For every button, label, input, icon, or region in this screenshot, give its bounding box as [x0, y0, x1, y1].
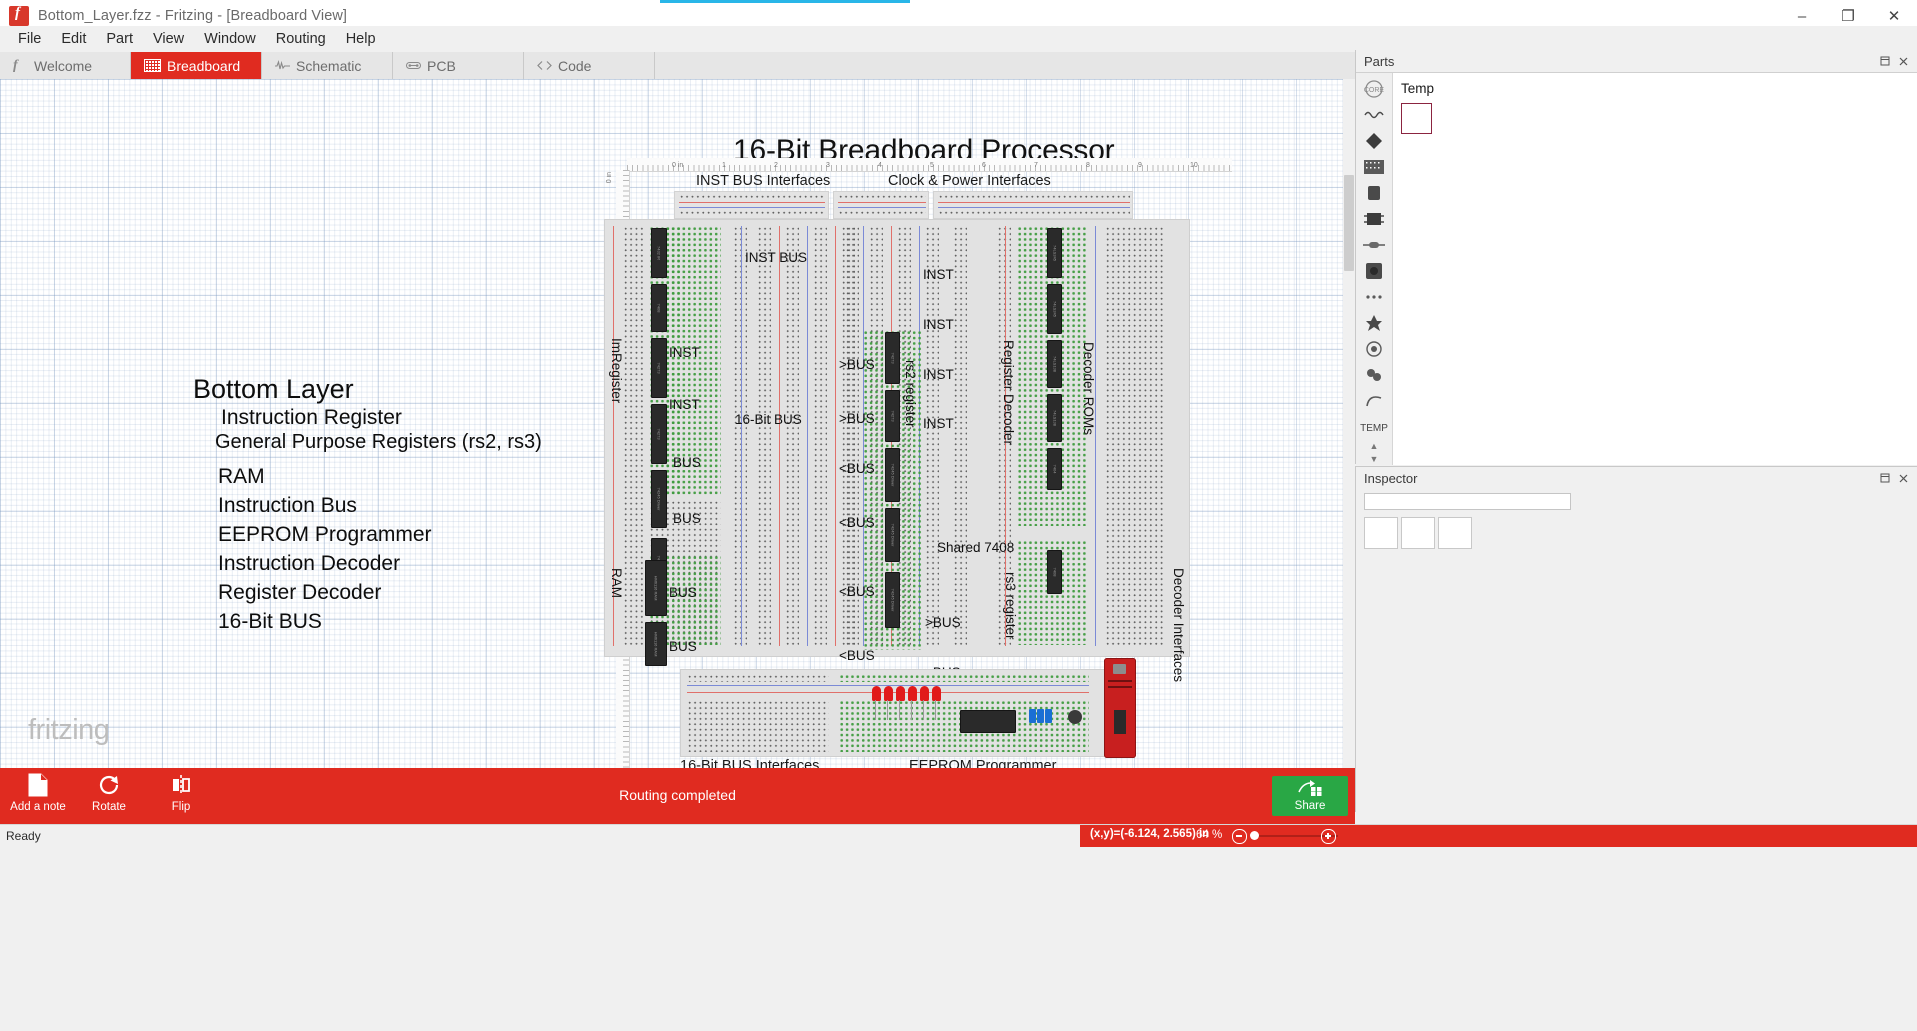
ruler-tick-5: 5 — [930, 162, 934, 169]
inspector-body — [1356, 489, 1917, 812]
led-2[interactable] — [896, 686, 905, 701]
chip-74ls245-a[interactable]: 74LS245 — [1047, 228, 1062, 278]
fritzing-f-icon: f — [13, 60, 28, 71]
inspector-name-field[interactable] — [1364, 493, 1571, 510]
tab-welcome-label: Welcome — [34, 58, 92, 74]
tab-strip-filler — [655, 52, 1355, 79]
resistor-icon[interactable] — [1359, 233, 1389, 257]
status-zoom-level: 64 % — [1196, 829, 1222, 841]
canvas-vertical-scrollbar[interactable] — [1343, 79, 1355, 768]
eeprom-breadboard[interactable] — [680, 669, 1132, 757]
tab-schematic-label: Schematic — [296, 58, 361, 74]
inspector-panel: Inspector — [1355, 466, 1917, 812]
led-0[interactable] — [872, 686, 881, 701]
pi-icon[interactable] — [1359, 363, 1389, 387]
code-icon — [537, 60, 552, 71]
close-icon[interactable] — [1896, 54, 1910, 68]
section-label-eeprom-programmer: EEPROM Programmer — [909, 758, 1056, 768]
net-label-rs2-1: >BUS — [839, 411, 875, 426]
status-ready-text: Ready — [6, 829, 41, 843]
chip-7408[interactable]: 7408 — [651, 284, 667, 332]
menu-help[interactable]: Help — [336, 28, 386, 50]
net-label-inst-1: INST — [923, 317, 954, 332]
annotation-line-3: Instruction Bus — [218, 491, 542, 520]
schematic-icon — [275, 60, 290, 71]
fritzing-watermark: fritzing — [28, 714, 109, 747]
net-label-ir-1: INST — [669, 397, 700, 412]
pin-icon[interactable] — [1878, 54, 1892, 68]
tab-pcb[interactable]: PCB — [393, 52, 524, 79]
board-label-inst-bus: INST BUS — [745, 250, 807, 265]
board-label-rs3-register: rs3 register — [1003, 572, 1018, 640]
ruler-tick-8: 8 — [1086, 162, 1090, 169]
ruler-tick-10: 10 — [1190, 162, 1198, 169]
ruler-tick-4: 4 — [878, 162, 882, 169]
fritzing-icon — [9, 6, 29, 26]
net-label-inst-3: INST — [923, 416, 954, 431]
net-label-ir-3: BUS — [673, 511, 701, 526]
power-rail-strip-2[interactable] — [833, 191, 929, 219]
led-3[interactable] — [908, 686, 917, 701]
status-coordinates: (x,y)=(-6.124, 2.565) in — [1090, 828, 1209, 840]
breadboard-bin-icon[interactable] — [1359, 155, 1389, 179]
tab-breadboard-label: Breadboard — [167, 58, 240, 74]
ruler-v-tick-0in: 0 in — [606, 172, 613, 183]
mine-icon[interactable] — [1359, 129, 1389, 153]
core-parts-icon[interactable]: CORE — [1359, 77, 1389, 101]
chip-74273-b[interactable]: 74273 — [651, 404, 667, 464]
main-breadboard[interactable]: 7432 IR 7408 74273 74273 74245 Driver 74… — [604, 219, 1190, 657]
chip-74245-driver-a[interactable]: 74245 Driver — [651, 470, 667, 528]
board-label-shared-7408: Shared 7408 — [937, 540, 1014, 555]
section-label-inst-bus-interfaces: INST BUS Interfaces — [696, 173, 830, 189]
parts-scroll-down-button[interactable]: ▼ — [1366, 452, 1382, 464]
ruler-tick-2: 2 — [774, 162, 778, 169]
chip-74273-rs2-a[interactable]: 74273 — [885, 332, 900, 384]
arduino-board[interactable] — [1104, 658, 1136, 758]
tab-code-label: Code — [558, 58, 591, 74]
pin-icon[interactable] — [1878, 471, 1892, 485]
power-rail-strip-1[interactable] — [674, 191, 829, 219]
menu-file[interactable]: File — [8, 28, 51, 50]
title-accent-bar — [660, 0, 910, 3]
connector-icon[interactable] — [1359, 181, 1389, 205]
share-button[interactable]: Share — [1272, 776, 1348, 816]
chip-eeprom[interactable] — [960, 710, 1016, 733]
window-title: Bottom_Layer.fzz - Fritzing - [Breadboar… — [38, 8, 347, 24]
net-label-rs2-0: >BUS — [839, 357, 875, 372]
net-label-ir-5: BUS — [669, 639, 697, 654]
ic-icon[interactable] — [1359, 207, 1389, 231]
board-label-ram: RAM — [609, 568, 624, 598]
ruler-tick-6: 6 — [982, 162, 986, 169]
board-label-decoder-interfaces: Decoder Interfaces — [1171, 568, 1186, 682]
svg-text:CORE: CORE — [1364, 87, 1385, 94]
ruler-tick-3: 3 — [826, 162, 830, 169]
parts-panel-header: Parts — [1356, 50, 1917, 72]
inspector-title: Inspector — [1364, 471, 1874, 486]
fritzing-window: Bottom_Layer.fzz - Fritzing - [Breadboar… — [0, 0, 1917, 1031]
chip-74245-rs2-b[interactable]: 74245 Driver — [885, 508, 900, 562]
cap-icon[interactable] — [1359, 389, 1389, 413]
pcb-icon — [406, 60, 421, 71]
section-label-clock-power-interfaces: Clock & Power Interfaces — [888, 173, 1051, 189]
parts-scroll-up-button[interactable]: ▲ — [1366, 440, 1382, 452]
chip-74245-rs3[interactable]: 74245 Driver — [885, 572, 900, 628]
chip-74ls138-a[interactable]: 74LS138 — [1047, 340, 1062, 388]
parts-panel: Parts CORE — [1355, 50, 1917, 464]
breadboard-assembly[interactable]: INST BUS Interfaces Clock & Power Interf… — [604, 186, 1224, 768]
chip-7404[interactable]: 7404 — [1047, 448, 1062, 490]
net-label-rs2-4: <BUS — [839, 584, 875, 599]
annotation-line-2: RAM — [218, 462, 542, 491]
board-label-16bit-bus: 16-Bit BUS — [735, 412, 802, 427]
chip-hm6116-ram-b[interactable]: HM6116 RAM — [645, 622, 667, 666]
tab-code[interactable]: Code — [524, 52, 655, 79]
chip-74245-rs2-a[interactable]: 74245 Driver — [885, 448, 900, 502]
part-tile-0[interactable] — [1401, 103, 1432, 134]
chip-hm6116-ram-a[interactable]: HM6116 RAM — [645, 560, 667, 616]
led-1[interactable] — [884, 686, 893, 701]
inspector-header: Inspector — [1356, 467, 1917, 489]
tab-welcome[interactable]: f Welcome — [0, 52, 131, 79]
capacitor-0[interactable] — [1029, 709, 1036, 723]
chip-7408-shared[interactable]: 7408 — [1047, 550, 1062, 594]
arduino-icon[interactable] — [1359, 103, 1389, 127]
breadboard-canvas[interactable]: 16-Bit Breadboard Processor Bottom Layer… — [0, 79, 1343, 768]
net-label-rs3-0: >BUS — [925, 615, 961, 630]
parts-bin-content: Temp — [1393, 73, 1917, 465]
ruler-tick-1: 1 — [722, 162, 726, 169]
net-label-rs2-3: <BUS — [839, 515, 875, 530]
inspector-swatch-0[interactable] — [1364, 517, 1398, 549]
menu-routing[interactable]: Routing — [266, 28, 336, 50]
share-label: Share — [1295, 800, 1326, 812]
power-rail-strip-3[interactable] — [933, 191, 1133, 219]
menu-part[interactable]: Part — [96, 28, 143, 50]
view-tab-strip: f Welcome Breadboard Schematic PCB Code — [0, 52, 1355, 79]
menu-window[interactable]: Window — [194, 28, 266, 50]
chip-74ls245-b[interactable]: 74LS245 — [1047, 284, 1062, 334]
close-icon[interactable] — [1896, 471, 1910, 485]
board-label-decoder-roms: Decoder ROMs — [1081, 342, 1096, 435]
led-4[interactable] — [920, 686, 929, 701]
snap-icon[interactable] — [1359, 337, 1389, 361]
section-label-16bit-bus-interfaces: 16-Bit BUS Interfaces — [680, 758, 819, 768]
status-bar: Ready (x,y)=(-6.124, 2.565) in 64 % — [0, 824, 1917, 847]
chip-74273-a[interactable]: 74273 — [651, 338, 667, 398]
canvas-scroll-thumb[interactable] — [1344, 175, 1354, 271]
annotation-line-6: Register Decoder — [218, 578, 542, 607]
parts-bins-rail[interactable]: CORE — [1356, 73, 1393, 465]
annotation-line-0: Instruction Register — [221, 405, 542, 430]
menu-bar: File Edit Part View Window Routing Help — [0, 26, 1917, 52]
net-label-inst-0: INST — [923, 267, 954, 282]
annotation-line-4: EEPROM Programmer — [218, 520, 542, 549]
board-label-rs2-register: rs2 register — [903, 360, 918, 428]
capacitor-2[interactable] — [1045, 709, 1052, 723]
tab-schematic[interactable]: Schematic — [262, 52, 393, 79]
annotation-text-block[interactable]: Bottom Layer Instruction Register Genera… — [193, 374, 542, 636]
inspector-swatch-1[interactable] — [1401, 517, 1435, 549]
dots-icon[interactable] — [1359, 285, 1389, 309]
ruler-tick-0in: 0 in — [672, 162, 683, 169]
capacitor-1[interactable] — [1037, 709, 1044, 723]
bottom-toolbar: Add a note Rotate Flip Routing completed… — [0, 768, 1355, 824]
tab-pcb-label: PCB — [427, 58, 456, 74]
temp-bin-word: TEMP — [1360, 423, 1388, 434]
menu-edit[interactable]: Edit — [51, 28, 96, 50]
ruler-tick-7: 7 — [1034, 162, 1038, 169]
chip-74273-rs2-b[interactable]: 74273 — [885, 390, 900, 442]
parts-bin-title: Temp — [1401, 81, 1917, 96]
net-label-rs2-2: <BUS — [839, 461, 875, 476]
zoom-slider-thumb[interactable] — [1250, 831, 1259, 840]
annotation-line-1: General Purpose Registers (rs2, rs3) — [215, 430, 542, 455]
board-label-ir-register: ImRegister — [609, 338, 624, 403]
annotation-line-5: Instruction Decoder — [218, 549, 542, 578]
net-label-ir-4: BUS — [669, 585, 697, 600]
zoom-out-icon[interactable] — [1232, 829, 1247, 844]
net-label-inst-2: INST — [923, 367, 954, 382]
annotation-heading: Bottom Layer — [193, 374, 542, 405]
led-5[interactable] — [932, 686, 941, 701]
parts-panel-body: CORE — [1356, 72, 1917, 465]
net-label-rs3-1: <BUS — [839, 648, 875, 663]
routing-status: Routing completed — [0, 787, 1355, 803]
potentiometer[interactable] — [1068, 710, 1082, 724]
parts-panel-title: Parts — [1364, 54, 1874, 69]
sensor-icon[interactable] — [1359, 259, 1389, 283]
zoom-in-icon[interactable] — [1321, 829, 1336, 844]
inspector-swatch-2[interactable] — [1438, 517, 1472, 549]
breadboard-icon — [144, 59, 161, 72]
ruler-tick-9: 9 — [1138, 162, 1142, 169]
chip-74ls138-b[interactable]: 74LS138 — [1047, 394, 1062, 442]
menu-view[interactable]: View — [143, 28, 194, 50]
sparkfun-icon[interactable] — [1359, 311, 1389, 335]
share-icon — [1297, 780, 1323, 799]
net-label-ir-2: BUS — [673, 455, 701, 470]
chip-7432-ir[interactable]: 7432 IR — [651, 228, 667, 278]
net-label-ir-0: INST — [669, 345, 700, 360]
board-label-register-decoder: Register Decoder — [1001, 340, 1016, 445]
annotation-line-7: 16-Bit BUS — [218, 607, 542, 636]
tab-breadboard[interactable]: Breadboard — [131, 52, 262, 79]
